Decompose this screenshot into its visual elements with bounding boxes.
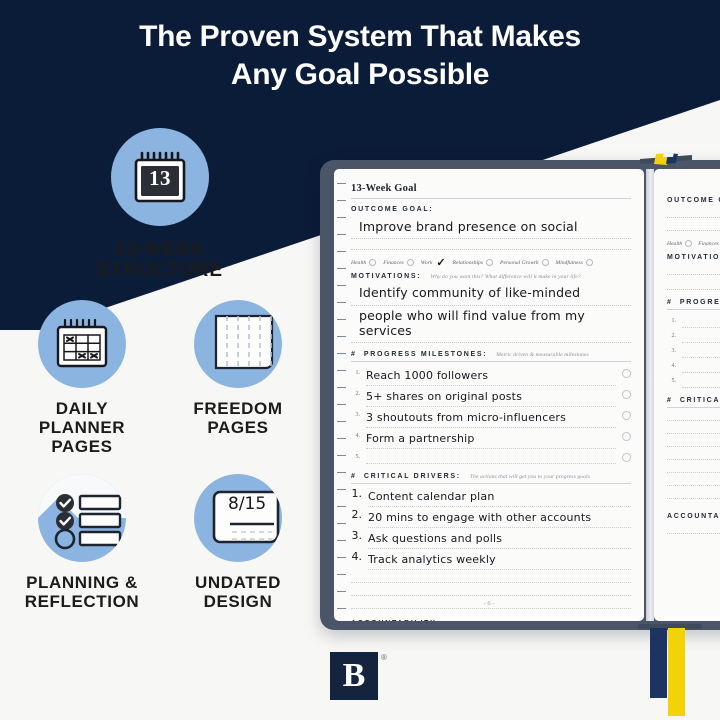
driver-text: 20 mins to engage with other accounts	[368, 511, 591, 524]
category-checkbox[interactable]	[542, 259, 549, 266]
planner-book: 13-Week Goal OUTCOME GOAL: Improve brand…	[320, 160, 720, 638]
category-label: Finances	[383, 260, 404, 266]
feature-label-line-2: PAGES	[51, 437, 112, 456]
drivers-hash-right: #	[667, 397, 671, 404]
planner-page-left: 13-Week Goal OUTCOME GOAL: Improve brand…	[334, 169, 644, 621]
milestone-number: 1.	[351, 366, 360, 376]
motivations-line-2: people who will find value from my servi…	[359, 308, 631, 339]
planner-page-right-content: OUTCOME GOAL: Health Finances MOTIVATION…	[654, 169, 720, 621]
driver-number: 2.	[351, 508, 362, 521]
milestone-checkbox[interactable]	[622, 369, 631, 378]
milestone-checkbox[interactable]	[622, 411, 631, 420]
drivers-header: # CRITICAL DRIVERS: The actions that wil…	[351, 473, 631, 480]
goal-category-row-right: Health Finances	[667, 240, 720, 247]
driver-text: Content calendar plan	[368, 490, 495, 503]
drivers-label-right: CRITICAL	[680, 397, 720, 404]
feature-daily-planner-pages: DAILY PLANNER PAGES	[17, 300, 147, 456]
page-title: The Proven System That Makes Any Goal Po…	[0, 18, 720, 95]
milestone-checkbox[interactable]	[622, 453, 631, 462]
drivers-hash: #	[351, 473, 355, 480]
category-checkbox[interactable]	[486, 259, 493, 266]
milestone-checkbox[interactable]	[622, 432, 631, 441]
accountability-label-right: ACCOUNTABILITY:	[667, 513, 720, 520]
feature-row-2: PLANNING & REFLECTION 8/15	[0, 474, 320, 611]
feature-13-week-structure: 13 13-WEEK STRUCTURE	[0, 128, 320, 282]
page-number: - 6 -	[334, 600, 644, 607]
milestone-row-right[interactable]: 2.	[667, 329, 720, 343]
undated-page-icon: 8/15	[194, 474, 282, 562]
feature-label-line-2: STRUCTURE	[97, 260, 223, 281]
feature-list: 13 13-WEEK STRUCTURE	[0, 128, 320, 611]
driver-number: 1.	[351, 487, 362, 500]
motivations-label-right: MOTIVATIONS:	[667, 254, 720, 261]
headline-line-1: The Proven System That Makes	[139, 20, 581, 53]
feature-row-1: DAILY PLANNER PAGES	[0, 300, 320, 456]
motivations-label: MOTIVATIONS:	[351, 273, 421, 280]
drivers-blank-lines-right	[667, 419, 720, 499]
feature-label-undated-design: UNDATED DESIGN	[195, 573, 281, 611]
milestone-row[interactable]: 5.	[351, 450, 631, 464]
feature-label-line-2: DESIGN	[204, 592, 273, 611]
feature-label-daily-planner: DAILY PLANNER PAGES	[17, 399, 147, 456]
category-label: Work	[421, 260, 433, 266]
accountability-label: ACCOUNTABILITY:	[351, 620, 440, 621]
motivations-hint: Why do you want this? What difference wi…	[430, 274, 580, 280]
milestones-list: 1. Reach 1000 followers 2. 5+ shares on …	[351, 366, 631, 464]
category-checkbox[interactable]	[685, 240, 692, 247]
milestone-number: 2.	[667, 329, 676, 339]
milestone-checkbox[interactable]	[622, 390, 631, 399]
milestone-row-right[interactable]: 4.	[667, 359, 720, 373]
outcome-goal-value: Improve brand presence on social	[359, 219, 631, 234]
milestone-row[interactable]: 2. 5+ shares on original posts	[351, 387, 631, 407]
milestones-header-right: # PROGRESS	[667, 299, 720, 306]
milestone-row[interactable]: 1. Reach 1000 followers	[351, 366, 631, 386]
category-label: Health	[351, 260, 366, 266]
logo-letter: B	[343, 659, 366, 693]
category-finances-right[interactable]: Finances	[698, 240, 720, 247]
calendar-number: 13	[149, 166, 171, 190]
drivers-header-right: # CRITICAL	[667, 397, 720, 404]
outcome-goal-rule-2	[351, 248, 631, 250]
milestones-label: PROGRESS MILESTONES:	[364, 351, 487, 358]
driver-text: Ask questions and polls	[368, 532, 502, 545]
feature-label-planning-reflection: PLANNING & REFLECTION	[25, 573, 140, 611]
goal-category-row: Health Finances Work ✓ Relationships	[351, 259, 631, 266]
motivations-rule-2	[351, 341, 631, 343]
drivers-label: CRITICAL DRIVERS:	[364, 473, 461, 480]
milestone-number: 5.	[351, 450, 360, 460]
title-divider	[351, 198, 631, 199]
driver-number: 3.	[351, 529, 362, 542]
category-checkbox[interactable]	[369, 259, 376, 266]
feature-freedom-pages: FREEDOM PAGES	[173, 300, 303, 456]
milestone-text: 3 shoutouts from micro-influencers	[366, 411, 566, 424]
category-mindfulness[interactable]: Mindfulness	[556, 259, 593, 266]
category-health[interactable]: Health	[351, 259, 376, 266]
brand-logo: B ®	[330, 652, 387, 700]
milestones-divider	[351, 361, 631, 362]
driver-number: 4.	[351, 550, 362, 563]
feature-label-freedom-pages: FREEDOM PAGES	[193, 399, 282, 437]
feature-undated-design: 8/15 UNDATED DESIGN	[173, 474, 303, 611]
logo-mark: B	[330, 652, 378, 700]
planner-page-right: OUTCOME GOAL: Health Finances MOTIVATION…	[654, 169, 720, 621]
motivations-header: MOTIVATIONS: Why do you want this? What …	[351, 273, 631, 280]
category-checkbox[interactable]	[586, 259, 593, 266]
feature-label-line-2: PAGES	[207, 418, 268, 437]
drivers-hint: The actions that will get you to your pr…	[470, 474, 590, 480]
milestone-number: 1.	[667, 314, 676, 324]
drivers-divider	[351, 483, 631, 484]
milestone-text: Form a partnership	[366, 432, 475, 445]
driver-row[interactable]: 2. 20 mins to engage with other accounts	[351, 508, 631, 528]
milestone-row[interactable]: 3. 3 shoutouts from micro-influencers	[351, 408, 631, 428]
bookmark-ribbon-top	[640, 148, 692, 168]
milestone-number: 3.	[351, 408, 360, 418]
category-work[interactable]: Work ✓	[421, 260, 446, 266]
milestone-number: 4.	[667, 359, 676, 369]
milestone-text: Reach 1000 followers	[366, 369, 488, 382]
ribbon-navy	[650, 628, 667, 698]
feature-planning-reflection: PLANNING & REFLECTION	[17, 474, 147, 611]
milestones-hash: #	[351, 351, 355, 358]
milestone-number: 3.	[667, 344, 676, 354]
outcome-goal-rule-1	[351, 237, 631, 239]
milestone-text: 5+ shares on original posts	[366, 390, 522, 403]
driver-row[interactable]: 4. Track analytics weekly	[351, 550, 631, 570]
feature-label-line-1: 13-WEEK	[114, 239, 205, 260]
category-label: Mindfulness	[556, 260, 583, 266]
milestone-row[interactable]: 4. Form a partnership	[351, 429, 631, 449]
planner-page-title: 13-Week Goal	[351, 183, 631, 194]
milestone-row-right[interactable]: 3.	[667, 344, 720, 358]
milestone-number: 2.	[351, 387, 360, 397]
calendar-grid-icon	[38, 300, 126, 388]
milestone-number: 5.	[667, 374, 676, 384]
calendar-13-icon: 13	[111, 128, 209, 226]
milestones-header: # PROGRESS MILESTONES: Metric driven & m…	[351, 351, 631, 358]
feature-label-13-week: 13-WEEK STRUCTURE	[97, 239, 223, 282]
undated-date-text: 8/15	[228, 494, 266, 514]
feature-label-line-1: PLANNING &	[26, 573, 138, 592]
outcome-goal-label-right: OUTCOME GOAL:	[667, 197, 720, 204]
category-label: Relationships	[453, 260, 483, 266]
milestone-row-right[interactable]: 5.	[667, 374, 720, 388]
dotted-page-icon	[194, 300, 282, 388]
ribbon-yellow	[668, 628, 685, 716]
motivations-line-1: Identify community of like-minded	[359, 285, 631, 300]
category-label: Health	[667, 241, 682, 247]
driver-text: Track analytics weekly	[368, 553, 496, 566]
category-personal-growth[interactable]: Personal Growth	[500, 259, 548, 266]
milestones-hint: Metric driven & measurable milestones	[496, 352, 589, 358]
category-checkbox[interactable]	[407, 259, 414, 266]
category-health-right[interactable]: Health	[667, 240, 692, 247]
headline-line-2: Any Goal Possible	[0, 56, 720, 94]
category-finances[interactable]: Finances	[383, 259, 414, 266]
infographic-canvas: The Proven System That Makes Any Goal Po…	[0, 0, 720, 720]
accountability-header: ACCOUNTABILITY: What accountability stru…	[351, 620, 631, 621]
driver-row[interactable]: 3. Ask questions and polls	[351, 529, 631, 549]
milestone-number: 4.	[351, 429, 360, 439]
motivations-rule-1	[351, 304, 631, 306]
feature-label-line-1: FREEDOM	[193, 399, 282, 418]
category-relationships[interactable]: Relationships	[453, 259, 493, 266]
trademark-symbol: ®	[381, 653, 387, 662]
milestones-label-right: PROGRESS	[680, 299, 720, 306]
feature-label-line-1: UNDATED	[195, 573, 281, 592]
book-gutter	[646, 169, 654, 621]
category-label: Personal Growth	[500, 260, 538, 266]
drivers-list: 1. Content calendar plan 2. 20 mins to e…	[351, 487, 631, 609]
feature-label-line-1: DAILY PLANNER	[39, 399, 125, 437]
milestones-hash-right: #	[667, 299, 671, 306]
checklist-icon	[38, 474, 126, 562]
category-label: Finances	[698, 241, 719, 247]
feature-label-line-2: REFLECTION	[25, 592, 140, 611]
outcome-goal-label: OUTCOME GOAL:	[351, 206, 631, 213]
planner-page-content: 13-Week Goal OUTCOME GOAL: Improve brand…	[334, 169, 644, 621]
driver-row[interactable]: 1. Content calendar plan	[351, 487, 631, 507]
milestone-row-right[interactable]: 1.	[667, 314, 720, 328]
